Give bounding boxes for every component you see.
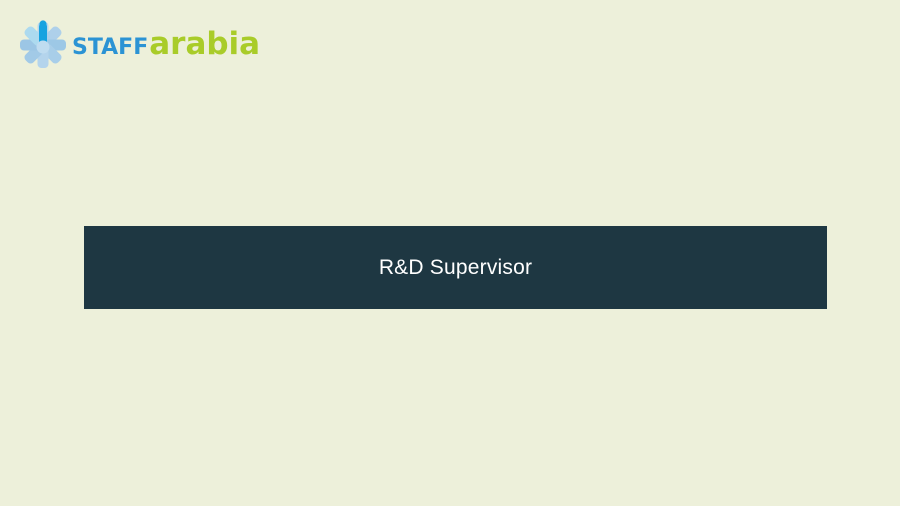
logo-word-staff: STAFF [72,29,148,60]
slide-canvas: STAFF arabia R&D Supervisor [0,0,900,506]
title-banner: R&D Supervisor [84,226,827,309]
logo-wordmark: STAFF arabia [72,29,260,60]
snowflake-star-icon [20,20,66,68]
staffarabia-logo[interactable]: STAFF arabia [20,18,260,70]
slide-title: R&D Supervisor [379,256,532,280]
logo-word-arabia: arabia [149,29,260,60]
